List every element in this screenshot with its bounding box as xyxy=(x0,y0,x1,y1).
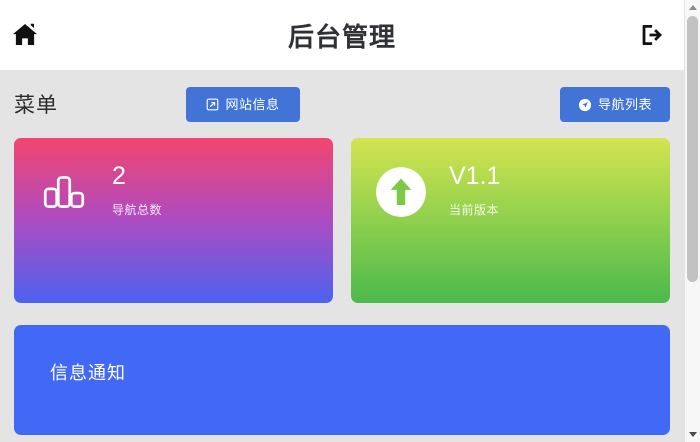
external-link-square-icon xyxy=(206,98,219,111)
stat-card-label: 当前版本 xyxy=(449,201,500,218)
nav-list-button-label: 导航列表 xyxy=(598,98,652,111)
site-info-button-label: 网站信息 xyxy=(225,98,279,111)
logout-icon[interactable] xyxy=(636,18,670,52)
scrollbar-thumb[interactable] xyxy=(687,16,698,282)
notice-title: 信息通知 xyxy=(50,359,670,385)
location-navigate-icon xyxy=(578,98,592,112)
site-info-button[interactable]: 网站信息 xyxy=(186,87,300,122)
nav-list-button[interactable]: 导航列表 xyxy=(560,87,670,122)
home-icon[interactable] xyxy=(8,18,42,52)
bar-chart-icon xyxy=(36,164,92,220)
stat-card-label: 导航总数 xyxy=(112,201,162,218)
arrow-up-circle-icon xyxy=(373,164,429,220)
stat-card-nav-total[interactable]: 2 导航总数 xyxy=(14,138,333,303)
scroll-up-arrow-icon[interactable] xyxy=(685,0,700,15)
notice-panel[interactable]: 信息通知 xyxy=(14,325,670,435)
stat-card-value: 2 xyxy=(112,162,162,191)
toolbar: 菜单 网站信息 导航列表 xyxy=(0,70,684,138)
stat-cards: 2 导航总数 V1.1 当前版本 xyxy=(0,138,684,303)
page-title: 后台管理 xyxy=(288,17,396,54)
scroll-down-arrow-icon[interactable] xyxy=(685,427,700,442)
stat-card-body: 2 导航总数 xyxy=(112,160,162,218)
vertical-scrollbar[interactable] xyxy=(684,0,700,442)
stat-card-current-version[interactable]: V1.1 当前版本 xyxy=(351,138,670,303)
stat-card-body: V1.1 当前版本 xyxy=(449,160,500,218)
menu-label: 菜单 xyxy=(14,89,58,119)
app-header: 后台管理 xyxy=(0,0,684,70)
stat-card-value: V1.1 xyxy=(449,162,500,191)
app-page: 后台管理 菜单 网站信息 xyxy=(0,0,684,442)
